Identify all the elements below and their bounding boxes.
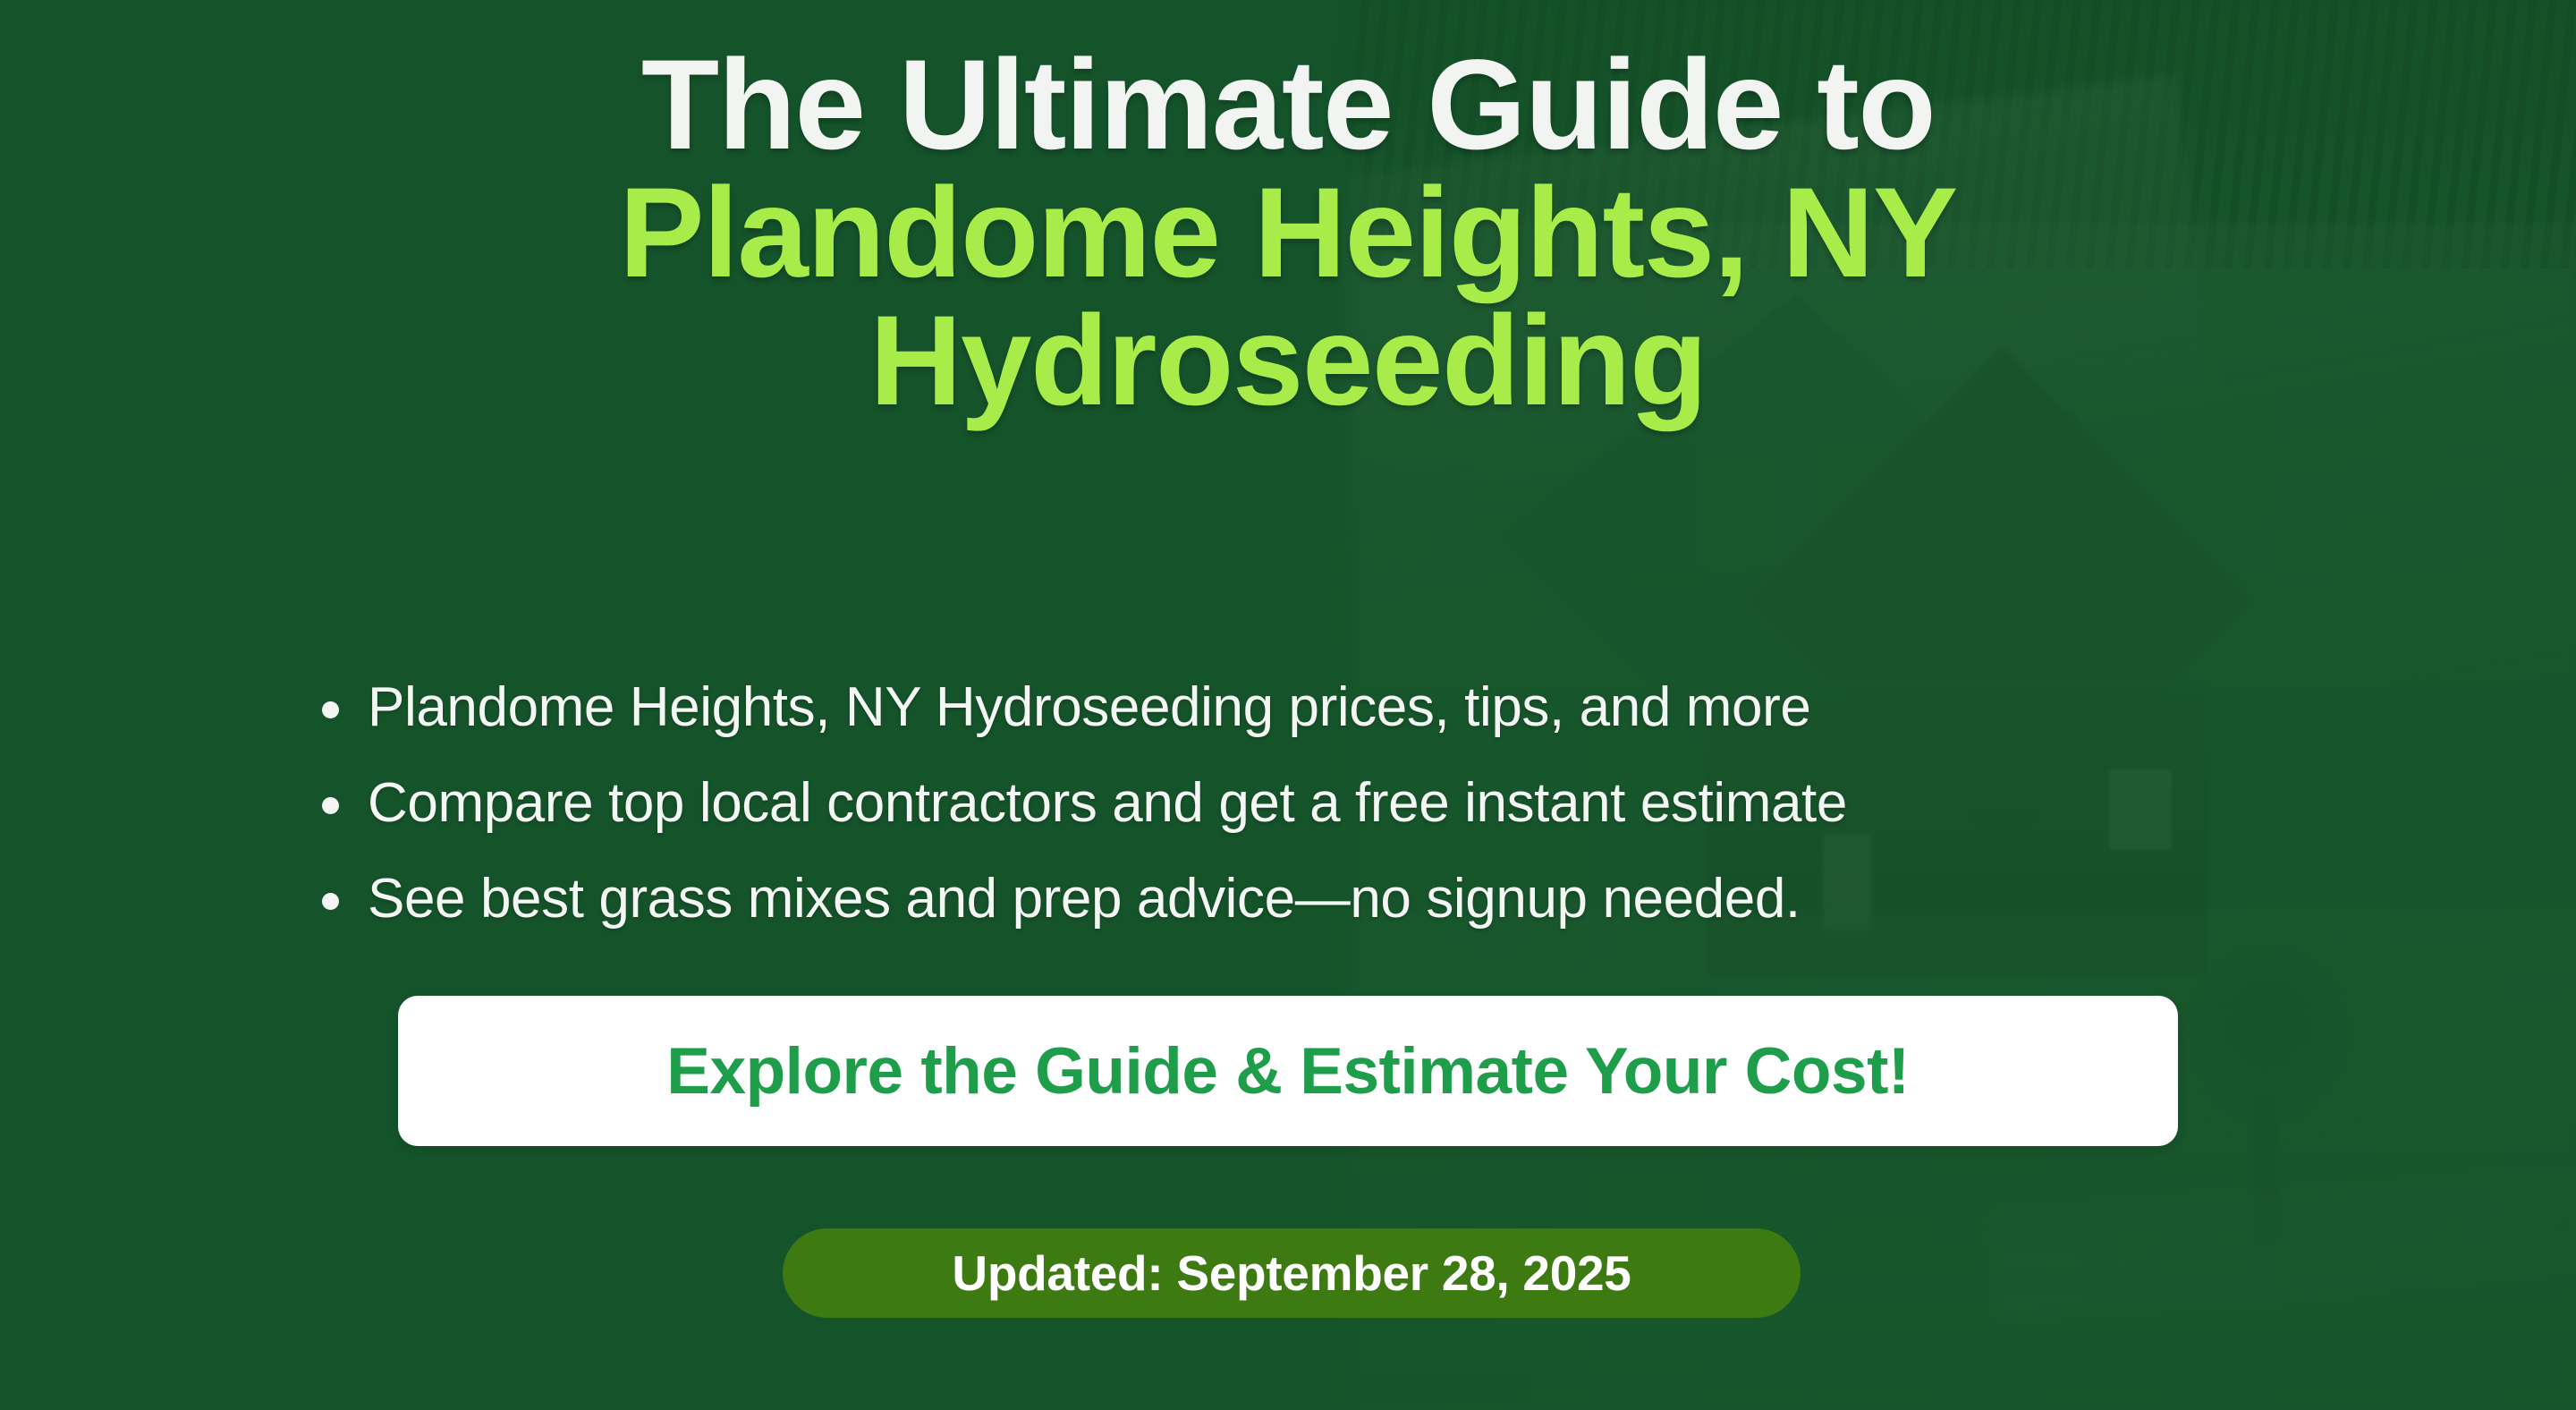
list-item: Compare top local contractors and get a … (322, 776, 1847, 831)
headline-line-3: Hydroseeding (0, 297, 2576, 425)
bullet-dot-icon (322, 893, 339, 910)
list-item: See best grass mixes and prep advice—no … (322, 871, 1847, 927)
explore-guide-cta-button[interactable]: Explore the Guide & Estimate Your Cost! (398, 996, 2178, 1146)
bullet-text: Compare top local contractors and get a … (368, 776, 1847, 831)
headline-line-2: Plandome Heights, NY (0, 169, 2576, 297)
updated-date-badge: Updated: September 28, 2025 (783, 1228, 1801, 1318)
bullet-dot-icon (322, 797, 339, 814)
page-title: The Ultimate Guide to Plandome Heights, … (0, 41, 2576, 425)
updated-date-label: Updated: September 28, 2025 (952, 1244, 1631, 1302)
headline-line-1: The Ultimate Guide to (0, 41, 2576, 169)
hero-content: The Ultimate Guide to Plandome Heights, … (0, 0, 2576, 1410)
list-item: Plandome Heights, NY Hydroseeding prices… (322, 680, 1847, 735)
feature-bullet-list: Plandome Heights, NY Hydroseeding prices… (322, 680, 1847, 967)
hero-banner: The Ultimate Guide to Plandome Heights, … (0, 0, 2576, 1410)
bullet-dot-icon (322, 701, 339, 718)
bullet-text: See best grass mixes and prep advice—no … (368, 871, 1801, 927)
bullet-text: Plandome Heights, NY Hydroseeding prices… (368, 680, 1810, 735)
